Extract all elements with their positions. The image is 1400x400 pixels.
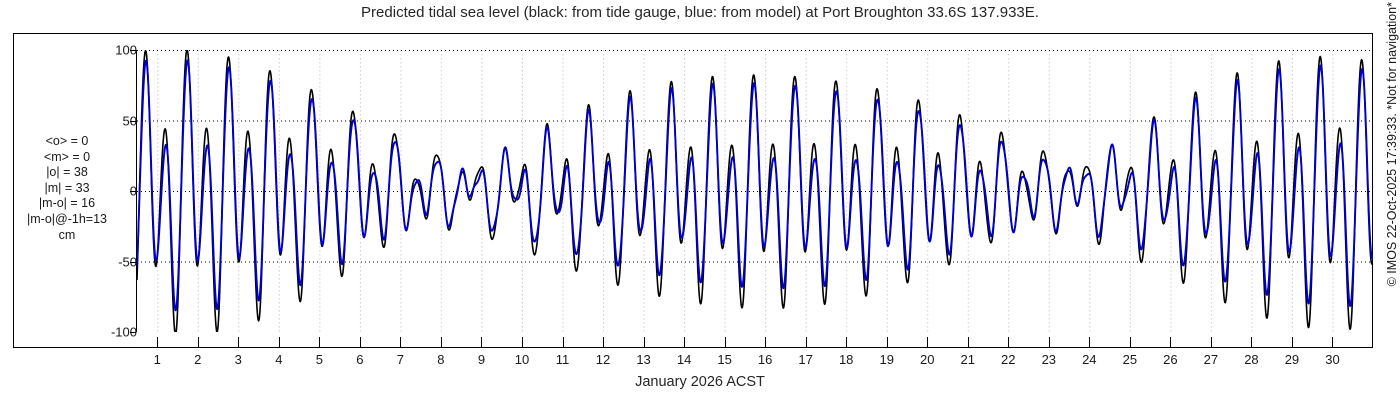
x-tick-mark — [1170, 337, 1171, 348]
x-tick-mark — [279, 337, 280, 348]
x-tick-label: 29 — [1272, 352, 1312, 367]
x-tick-label: 1 — [137, 352, 177, 367]
x-tick-label: 22 — [988, 352, 1028, 367]
x-tick-label: 17 — [786, 352, 826, 367]
x-tick-mark — [846, 337, 847, 348]
credit-text: © IMOS 22-Oct-2025 17:39:33. *Not for na… — [1381, 0, 1399, 400]
x-tick-label: 21 — [948, 352, 988, 367]
x-tick-label: 10 — [502, 352, 542, 367]
x-tick-mark — [644, 337, 645, 348]
x-tick-mark — [1089, 337, 1090, 348]
x-tick-mark — [927, 337, 928, 348]
x-tick-mark — [400, 337, 401, 348]
x-tick-label: 18 — [826, 352, 866, 367]
x-tick-mark — [1332, 337, 1333, 348]
x-tick-label: 12 — [583, 352, 623, 367]
x-axis-title: January 2026 ACST — [0, 374, 1400, 390]
x-tick-label: 3 — [218, 352, 258, 367]
x-tick-label: 28 — [1231, 352, 1271, 367]
x-tick-mark — [968, 337, 969, 348]
x-tick-label: 11 — [543, 352, 583, 367]
x-tick-label: 25 — [1110, 352, 1150, 367]
x-tick-label: 26 — [1150, 352, 1190, 367]
credit-label: © IMOS 22-Oct-2025 17:39:33. *Not for na… — [1385, 2, 1399, 398]
x-tick-mark — [1008, 337, 1009, 348]
x-tick-mark — [603, 337, 604, 348]
x-axis-ticks: 1234567891011121314151617181920212223242… — [0, 0, 1400, 400]
x-tick-label: 27 — [1191, 352, 1231, 367]
x-tick-label: 6 — [340, 352, 380, 367]
x-tick-mark — [481, 337, 482, 348]
x-tick-label: 13 — [624, 352, 664, 367]
x-tick-mark — [198, 337, 199, 348]
x-tick-mark — [319, 337, 320, 348]
x-tick-label: 7 — [380, 352, 420, 367]
x-tick-label: 30 — [1312, 352, 1352, 367]
x-tick-mark — [1292, 337, 1293, 348]
x-tick-label: 23 — [1029, 352, 1069, 367]
x-tick-label: 15 — [705, 352, 745, 367]
x-tick-label: 24 — [1069, 352, 1109, 367]
x-tick-mark — [157, 337, 158, 348]
x-tick-mark — [1049, 337, 1050, 348]
x-tick-mark — [563, 337, 564, 348]
x-tick-label: 2 — [178, 352, 218, 367]
x-tick-label: 20 — [907, 352, 947, 367]
x-tick-mark — [1251, 337, 1252, 348]
x-tick-mark — [684, 337, 685, 348]
x-tick-mark — [765, 337, 766, 348]
x-tick-mark — [441, 337, 442, 348]
x-tick-label: 16 — [745, 352, 785, 367]
x-tick-mark — [522, 337, 523, 348]
x-tick-label: 19 — [867, 352, 907, 367]
x-tick-label: 4 — [259, 352, 299, 367]
x-tick-mark — [1211, 337, 1212, 348]
x-tick-mark — [806, 337, 807, 348]
x-tick-label: 8 — [421, 352, 461, 367]
x-tick-label: 14 — [664, 352, 704, 367]
x-tick-label: 9 — [461, 352, 501, 367]
x-tick-mark — [238, 337, 239, 348]
x-tick-mark — [725, 337, 726, 348]
x-tick-label: 5 — [299, 352, 339, 367]
x-tick-mark — [887, 337, 888, 348]
x-tick-mark — [1130, 337, 1131, 348]
x-tick-mark — [360, 337, 361, 348]
